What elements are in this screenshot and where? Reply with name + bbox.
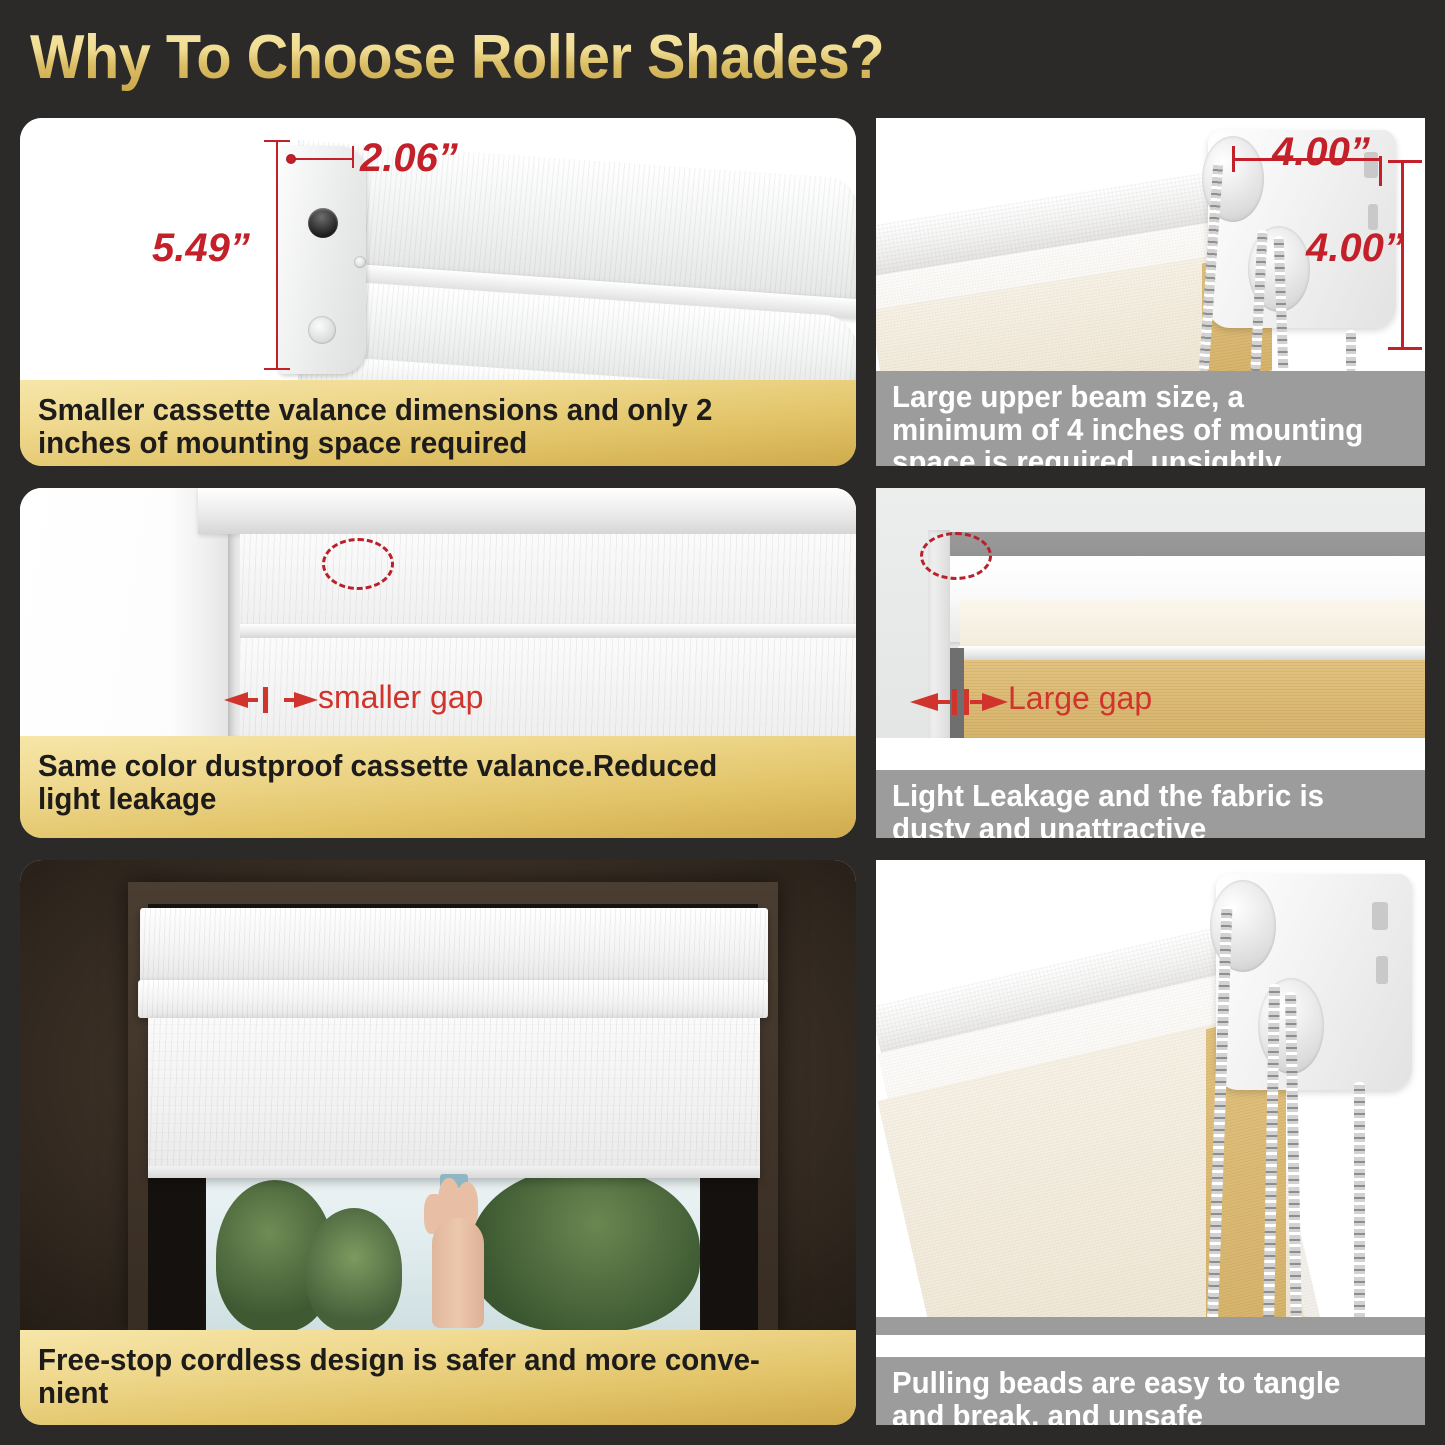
- width-dim-line: [290, 158, 354, 160]
- caption-line: Same color dustproof cassette valance.Re…: [38, 750, 798, 783]
- window-head-trim: [198, 488, 856, 534]
- beam-width-label: 4.00”: [1272, 130, 1370, 175]
- cordless-room-photo: [20, 860, 856, 1330]
- tree-center: [306, 1208, 402, 1330]
- panel-3-caption: Same color dustproof cassette valance.Re…: [20, 736, 856, 838]
- panel-6-caption: Pulling beads are easy to tangle and bre…: [876, 1357, 1425, 1425]
- large-gap-label: Large gap: [1008, 680, 1152, 717]
- height-dim-tick-top: [264, 140, 290, 142]
- caption-line: and break, and unsafe: [892, 1400, 1385, 1425]
- light-leakage-photo: Large gap: [876, 488, 1425, 738]
- caption-line: Light Leakage and the fabric is: [892, 780, 1385, 813]
- panel-light-leakage: Large gap Light Leakage and the fabric i…: [876, 488, 1425, 838]
- panel-5-caption: Free-stop cordless design is safer and m…: [20, 1330, 856, 1425]
- height-dim-line: [276, 140, 278, 370]
- panel-dustproof-valance: smaller gap Same color dustproof cassett…: [20, 488, 856, 838]
- caption-line: Free-stop cordless design is safer and m…: [38, 1344, 798, 1377]
- cream-band: [960, 600, 1425, 650]
- valance-screw-upper: [354, 256, 366, 268]
- caption-line: dusty and unattractive: [892, 813, 1385, 838]
- forearm: [432, 1218, 484, 1328]
- smaller-gap-label: smaller gap: [318, 679, 483, 716]
- large-beam-photo: 4.00” 4.00”: [876, 118, 1425, 371]
- bead-chain-right: [1354, 1082, 1365, 1334]
- floor-strip: [876, 1317, 1425, 1335]
- page-title: Why To Choose Roller Shades?: [30, 22, 884, 93]
- cassette-valance-photo: 2.06” 5.49”: [20, 118, 856, 380]
- beam-height-tick-bottom: [1388, 347, 1422, 350]
- caption-line: Smaller cassette valance dimensions and …: [38, 394, 798, 427]
- height-dim-tick-bottom: [264, 368, 290, 370]
- tree-right: [470, 1166, 700, 1330]
- valance-screw-lower: [308, 316, 336, 344]
- caption-line: space is required, unsightly: [892, 446, 1385, 466]
- bracket-slot-mid: [1376, 956, 1388, 984]
- roller-shade-fabric: [148, 1018, 760, 1178]
- panel-cassette-valance: 2.06” 5.49” Smaller cassette valance dim…: [20, 118, 856, 466]
- pulling-beads-photo: [876, 860, 1425, 1335]
- panel-large-upper-beam: 4.00” 4.00” Large upper beam size, a min…: [876, 118, 1425, 466]
- caption-line: Large upper beam size, a: [892, 381, 1385, 414]
- gap-callout-ring: [322, 538, 394, 590]
- caption-line: inches of mounting space required: [38, 427, 798, 460]
- beam-height-tick-top: [1388, 160, 1422, 163]
- window-mullion-left: [148, 1160, 204, 1330]
- dustproof-valance-photo: smaller gap: [20, 488, 856, 736]
- valance-bottom-rail: [236, 624, 856, 638]
- cassette-headrail: [140, 908, 768, 984]
- caption-line: minimum of 4 inches of mounting: [892, 414, 1385, 447]
- width-dim-tick-right: [352, 146, 354, 168]
- caption-line: Pulling beads are easy to tangle: [892, 1367, 1385, 1400]
- infographic-root: Why To Choose Roller Shades? 2.06” 5.49”: [0, 0, 1445, 1445]
- width-dimension-label: 2.06”: [360, 136, 458, 181]
- smaller-gap-arrows: [222, 683, 332, 717]
- valance-mechanism-hole: [308, 208, 338, 238]
- cassette-front-lip: [138, 980, 768, 1018]
- beam-bottom-rail: [958, 646, 1425, 660]
- panel-1-caption: Smaller cassette valance dimensions and …: [20, 380, 856, 466]
- panel-4-caption: Light Leakage and the fabric is dusty an…: [876, 770, 1425, 838]
- height-dimension-label: 5.49”: [152, 226, 250, 271]
- beam-width-tick-left: [1232, 146, 1235, 172]
- gap-callout-ring: [920, 532, 992, 580]
- hand: [420, 1178, 500, 1328]
- large-gap-arrows: [908, 685, 1018, 719]
- caption-line: light leakage: [38, 783, 798, 816]
- beam-height-label: 4.00”: [1306, 226, 1404, 271]
- beam-width-tick-right: [1379, 156, 1382, 186]
- panel-pulling-beads: Pulling beads are easy to tangle and bre…: [876, 860, 1425, 1425]
- bead-chain-far-right: [1346, 330, 1356, 371]
- panel-2-caption: Large upper beam size, a minimum of 4 in…: [876, 371, 1425, 466]
- bracket-slot-top: [1372, 902, 1388, 930]
- width-dim-dot: [286, 154, 296, 164]
- panel-cordless-design: Free-stop cordless design is safer and m…: [20, 860, 856, 1425]
- caption-line: nient: [38, 1377, 798, 1410]
- window-mullion-right: [702, 1160, 758, 1330]
